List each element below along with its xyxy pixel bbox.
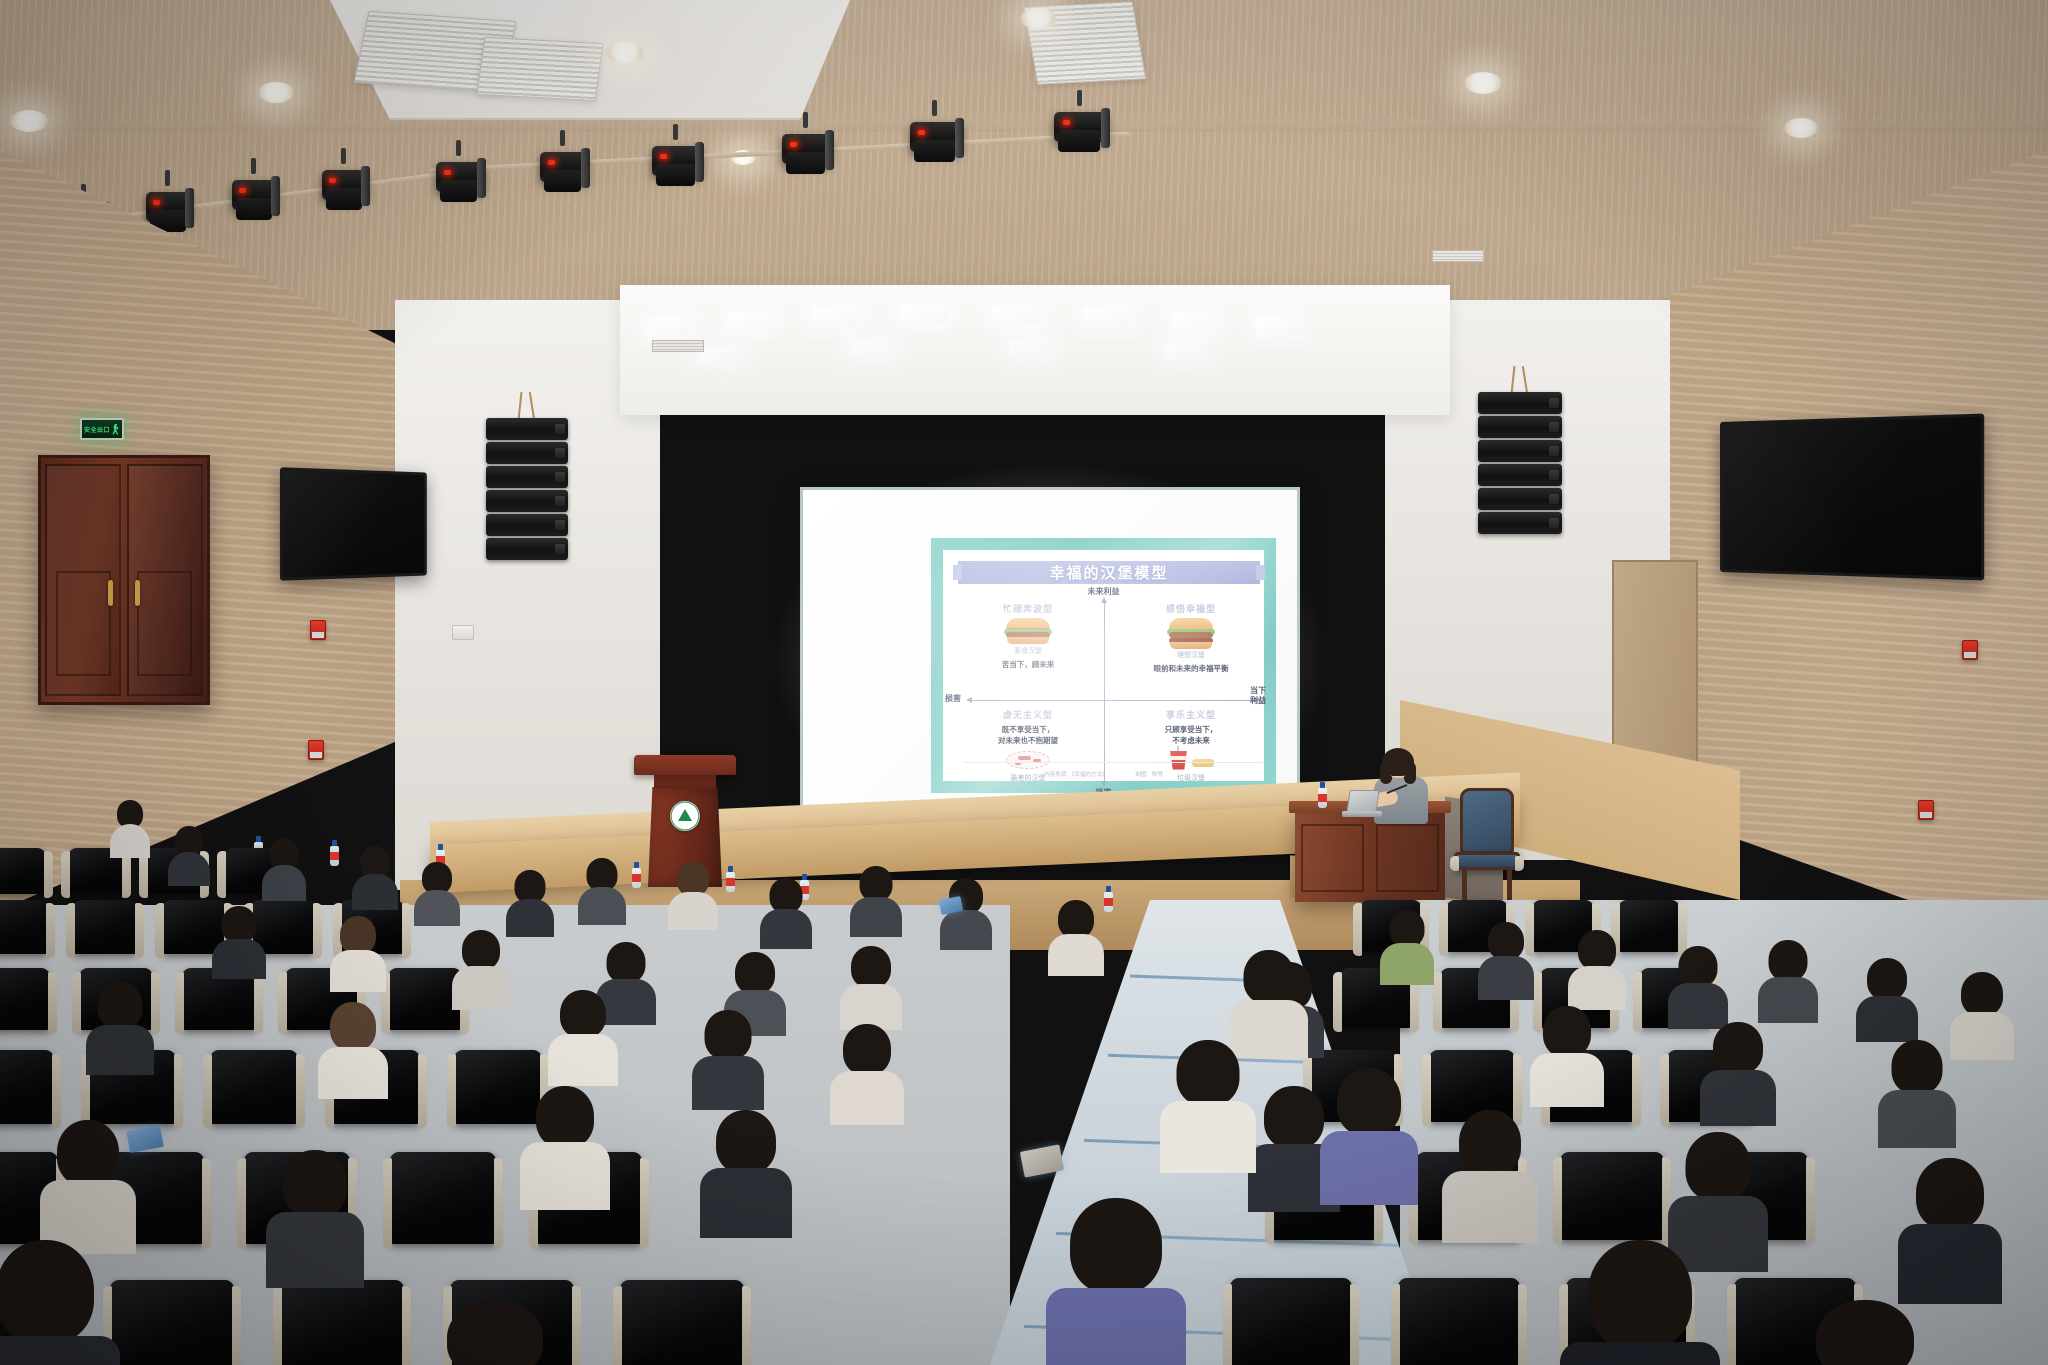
seat[interactable] bbox=[0, 1050, 54, 1124]
slide-title: 幸福的汉堡模型 bbox=[1049, 562, 1168, 583]
audience-member bbox=[1442, 1110, 1538, 1238]
door-handle[interactable] bbox=[135, 580, 140, 606]
quadrant-top-right: 感悟幸福型 理想汉堡 眼前和未来的幸福平衡 bbox=[1121, 602, 1261, 674]
seat[interactable] bbox=[110, 1280, 234, 1365]
quadrant-description: 苦当下，顾未来 bbox=[958, 659, 1098, 670]
audience-member bbox=[1568, 930, 1626, 1006]
audience-member bbox=[830, 1024, 904, 1122]
panel-light bbox=[1171, 312, 1220, 330]
audience-member bbox=[86, 982, 154, 1072]
audience-member bbox=[578, 858, 626, 922]
water-bottle[interactable] bbox=[330, 840, 339, 866]
seat[interactable] bbox=[0, 968, 50, 1030]
audience-member bbox=[1230, 950, 1308, 1054]
audience-member bbox=[452, 930, 510, 1006]
audience-member-foreground bbox=[1560, 1240, 1720, 1365]
audience-member bbox=[110, 800, 150, 856]
audience-member bbox=[1478, 922, 1534, 996]
audience-member bbox=[520, 1086, 610, 1206]
axis-arrow-left bbox=[966, 697, 972, 703]
door-handle[interactable] bbox=[108, 580, 113, 606]
auditorium-door-left[interactable] bbox=[38, 455, 210, 705]
presenter-chair[interactable] bbox=[1452, 788, 1522, 908]
seat[interactable] bbox=[388, 968, 462, 1030]
audience-member bbox=[840, 946, 902, 1026]
wall-display-right bbox=[1720, 413, 1984, 580]
quadrant-title: 忙碌奔波型 bbox=[958, 602, 1098, 615]
axis-label-right: 当下 利益 bbox=[1250, 686, 1266, 706]
quadrant-description-line1: 既不享受当下， bbox=[958, 724, 1098, 735]
fire-alarm-left-lower[interactable] bbox=[308, 740, 324, 760]
audience-member bbox=[1668, 946, 1728, 1024]
quadrant-burger-label: 理想汉堡 bbox=[1121, 650, 1261, 660]
fire-alarm-right[interactable] bbox=[1962, 640, 1978, 660]
seat[interactable] bbox=[1230, 1278, 1352, 1365]
quadrant-description: 眼前和未来的幸福平衡 bbox=[1121, 663, 1261, 674]
audience-member bbox=[1048, 900, 1104, 974]
audience-member-foreground bbox=[1046, 1198, 1186, 1365]
seat[interactable] bbox=[0, 900, 48, 954]
ceiling-vent-center bbox=[476, 37, 603, 101]
wall-vent bbox=[652, 340, 704, 352]
quadrant-title: 享乐主义型 bbox=[1121, 708, 1261, 721]
water-bottle[interactable] bbox=[632, 862, 641, 888]
presenter-laptop[interactable] bbox=[1342, 790, 1382, 820]
panel-light bbox=[1254, 318, 1302, 336]
audience-member bbox=[506, 870, 554, 934]
exit-sign-label: 安全出口 bbox=[84, 425, 110, 434]
axis-vertical bbox=[1104, 600, 1105, 786]
veggie-burger-icon bbox=[1004, 618, 1052, 644]
quadrant-description-line1: 只顾享受当下， bbox=[1121, 724, 1261, 735]
panel-light bbox=[992, 306, 1040, 324]
seat[interactable] bbox=[73, 900, 137, 954]
seat[interactable] bbox=[210, 1050, 298, 1124]
lecture-hall-scene: 安全出口 bbox=[0, 0, 2048, 1365]
audience-member bbox=[330, 916, 386, 988]
seat-row bbox=[1230, 1278, 1856, 1365]
audience-member bbox=[352, 846, 398, 908]
door-panel bbox=[56, 571, 111, 676]
audience-member bbox=[168, 826, 210, 884]
water-bottle[interactable] bbox=[726, 866, 735, 892]
audience-member bbox=[1878, 1040, 1956, 1144]
audience-member bbox=[40, 1120, 136, 1250]
audience-member bbox=[318, 1002, 388, 1096]
audience-member bbox=[1856, 958, 1918, 1038]
panel-light bbox=[1083, 308, 1130, 326]
audience-member bbox=[1950, 972, 2014, 1056]
audience-member bbox=[850, 866, 902, 934]
seat[interactable] bbox=[390, 1152, 496, 1244]
presentation-slide: 幸福的汉堡模型 未来利益 损害 损害 当下 利益 bbox=[931, 538, 1276, 793]
audience-member bbox=[1160, 1040, 1256, 1168]
quadrant-top-left: 忙碌奔波型 素食汉堡 苦当下，顾未来 bbox=[958, 602, 1098, 670]
ideal-burger-icon bbox=[1167, 618, 1215, 648]
audience-member bbox=[1530, 1006, 1604, 1104]
axis-label-left: 损害 bbox=[945, 693, 961, 704]
audience-member-foreground bbox=[0, 1240, 120, 1365]
downlight bbox=[1464, 72, 1502, 94]
panel-light bbox=[899, 306, 948, 324]
panel-light bbox=[811, 308, 860, 326]
projection-surface: 幸福的汉堡模型 未来利益 损害 损害 当下 利益 bbox=[803, 490, 1297, 829]
audience-member-foreground bbox=[1790, 1300, 1940, 1365]
seat[interactable] bbox=[1560, 1152, 1664, 1240]
panel-light bbox=[726, 312, 776, 330]
seat-row bbox=[0, 1050, 542, 1124]
slide-footer-divider bbox=[963, 762, 1263, 763]
water-bottle[interactable] bbox=[1318, 782, 1327, 808]
audience-member bbox=[262, 838, 306, 898]
downlight bbox=[1784, 118, 1818, 138]
slide-footer-credit: 制图：陈慧 bbox=[1135, 770, 1163, 778]
audience-member bbox=[692, 1010, 764, 1106]
water-bottle[interactable] bbox=[1104, 886, 1113, 912]
fire-alarm-left[interactable] bbox=[310, 620, 326, 640]
wall-display-left bbox=[280, 467, 427, 581]
downlight bbox=[258, 82, 294, 103]
seat[interactable] bbox=[280, 1280, 404, 1365]
axis-arrow-up bbox=[1101, 597, 1107, 603]
exit-sign: 安全出口 bbox=[80, 418, 124, 440]
door-leaf[interactable] bbox=[45, 464, 121, 696]
ceiling-beam bbox=[0, 118, 2048, 132]
audience-member bbox=[1700, 1022, 1776, 1122]
quadrant-description-line2: 不考虑未来 bbox=[1121, 735, 1261, 746]
projection-screen: 幸福的汉堡模型 未来利益 损害 损害 当下 利益 bbox=[800, 487, 1300, 832]
panel-light bbox=[698, 348, 742, 363]
axis-horizontal bbox=[969, 700, 1257, 701]
slide-footer-source: 内容来源：《幸福的方法》 bbox=[1044, 770, 1107, 778]
audience-member bbox=[668, 862, 718, 928]
fire-alarm-right-lower[interactable] bbox=[1918, 800, 1934, 820]
downlight bbox=[10, 110, 48, 132]
audience-member bbox=[760, 878, 812, 946]
seat[interactable] bbox=[1398, 1278, 1520, 1365]
audience-member bbox=[548, 990, 618, 1082]
quadrant-description-line2: 对未来也不抱期望 bbox=[958, 735, 1098, 746]
axis-label-right-line2: 利益 bbox=[1250, 696, 1266, 706]
slide-title-band: 幸福的汉堡模型 bbox=[958, 561, 1260, 584]
seat[interactable] bbox=[1618, 900, 1680, 952]
axis-label-right-line1: 当下 bbox=[1250, 686, 1266, 696]
school-emblem-icon bbox=[670, 801, 700, 831]
seat[interactable] bbox=[620, 1280, 744, 1365]
door-panel bbox=[137, 571, 192, 676]
slide-footer: 内容来源：《幸福的方法》 制图：陈慧 bbox=[943, 770, 1264, 778]
panel-light bbox=[1010, 340, 1052, 355]
audience-member bbox=[1758, 940, 1818, 1018]
downlight bbox=[606, 42, 644, 64]
axis-label-top: 未来利益 bbox=[1088, 586, 1120, 597]
quadrant-title: 虚无主义型 bbox=[958, 708, 1098, 721]
wall-outlet[interactable] bbox=[452, 625, 474, 640]
panel-light bbox=[645, 318, 694, 336]
speaker-array-left bbox=[486, 418, 568, 562]
audience-member-foreground bbox=[420, 1300, 570, 1365]
audience-member bbox=[700, 1110, 792, 1234]
audience-member bbox=[1898, 1158, 2002, 1298]
panel-light bbox=[1163, 344, 1205, 359]
door-leaf[interactable] bbox=[127, 464, 203, 696]
audience-member bbox=[1380, 910, 1434, 982]
empty-plate-icon bbox=[1006, 749, 1050, 771]
wall-vent bbox=[1432, 250, 1484, 262]
audience-member bbox=[212, 906, 266, 976]
panel-light bbox=[851, 342, 895, 357]
quadrant-burger-label: 素食汉堡 bbox=[958, 646, 1098, 656]
quadrant-title: 感悟幸福型 bbox=[1121, 602, 1261, 615]
seat[interactable] bbox=[0, 848, 46, 894]
speaker-array-right bbox=[1478, 392, 1562, 536]
junk-food-icon bbox=[1166, 749, 1216, 771]
running-person-icon bbox=[112, 424, 120, 435]
downlight bbox=[1020, 8, 1056, 29]
audience-member bbox=[414, 862, 460, 924]
audience-member bbox=[266, 1150, 364, 1284]
audience-member bbox=[1320, 1068, 1418, 1198]
